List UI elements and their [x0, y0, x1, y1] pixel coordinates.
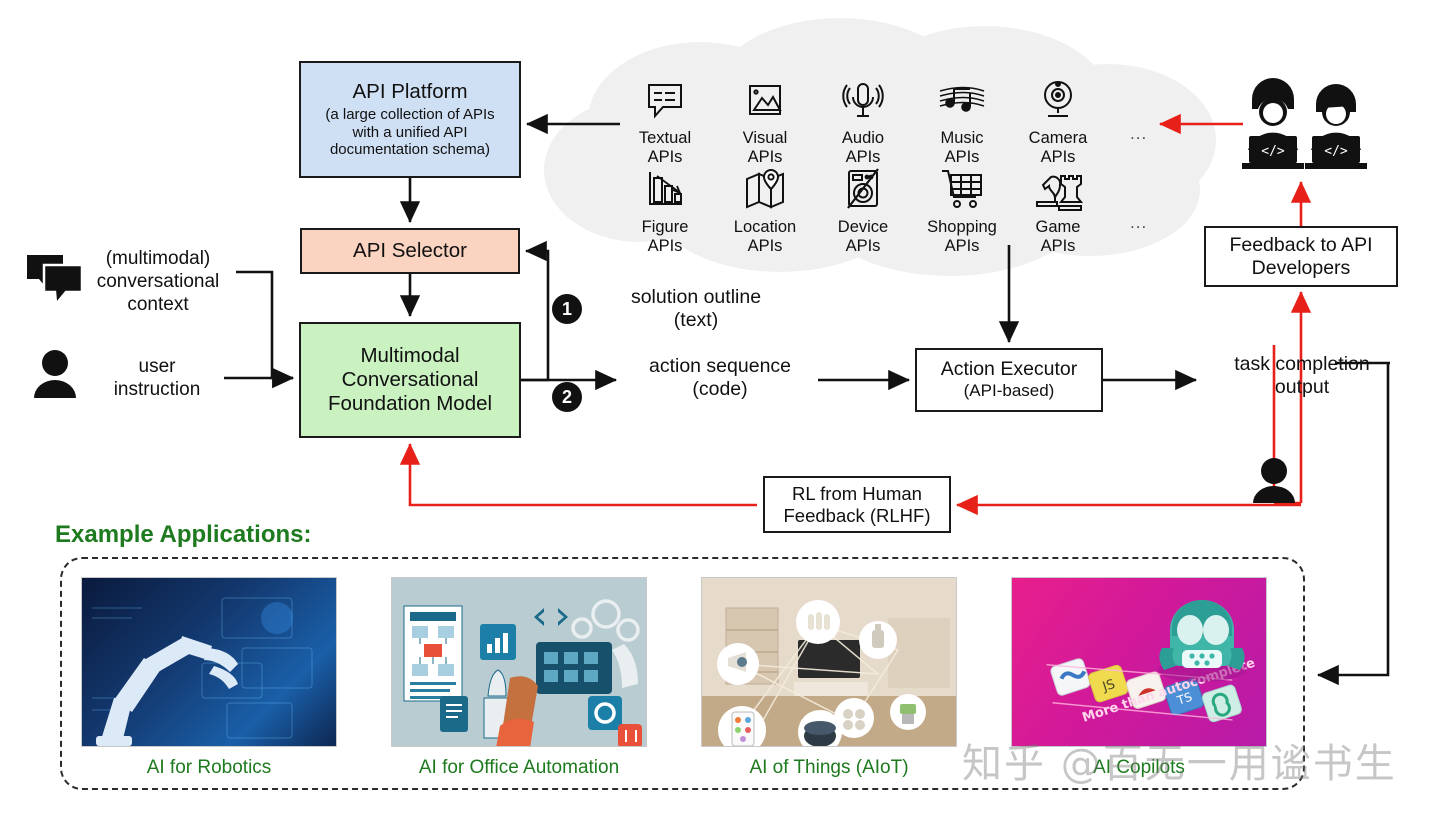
location-api-icon — [717, 162, 813, 214]
device-api-icon — [815, 162, 911, 214]
step-1-badge: 1 — [552, 294, 582, 324]
api-music[interactable]: MusicAPIs — [914, 73, 1010, 167]
developer-female-icon: </> — [1242, 78, 1304, 169]
diagram-canvas: API Platform (a large collection of APIs… — [0, 0, 1440, 813]
application-card-robotics[interactable]: AI for Robotics — [81, 577, 337, 779]
rlhf-node[interactable]: RL from Human Feedback (RLHF) — [763, 476, 951, 533]
application-caption: AI for Robotics — [81, 757, 337, 779]
svg-text:</>: </> — [1261, 144, 1285, 159]
user-instruction-label: user instruction — [92, 355, 222, 401]
step-2-badge: 2 — [552, 382, 582, 412]
figure-api-icon — [617, 162, 713, 214]
api-platform-node[interactable]: API Platform (a large collection of APIs… — [299, 61, 521, 178]
application-card-office[interactable]: AI for Office Automation — [391, 577, 647, 779]
feedback-line1: Feedback to API — [1229, 234, 1372, 257]
foundation-model-line2: Conversational — [342, 368, 479, 392]
api-audio[interactable]: AudioAPIs — [815, 73, 911, 167]
api-camera[interactable]: CameraAPIs — [1010, 73, 1106, 167]
svg-text:</>: </> — [1324, 144, 1348, 159]
api-location[interactable]: LocationAPIs — [717, 162, 813, 256]
copilot-mascot-graphic: JS TS More than autocomplete — [1011, 577, 1267, 747]
visual-api-icon — [717, 73, 813, 125]
api-visual[interactable]: VisualAPIs — [717, 73, 813, 167]
user-person-icon — [34, 350, 76, 398]
end-user-person-icon — [1253, 458, 1295, 503]
cloud-ellipsis-top: ... — [1130, 124, 1147, 144]
shopping-api-icon — [914, 162, 1010, 214]
feedback-to-developers-node[interactable]: Feedback to API Developers — [1204, 226, 1398, 287]
rlhf-line2: Feedback (RLHF) — [783, 505, 930, 527]
api-platform-subtitle: (a large collection of APIs with a unifi… — [325, 106, 494, 159]
foundation-model-node[interactable]: Multimodal Conversational Foundation Mod… — [299, 322, 521, 438]
api-selector-node[interactable]: API Selector — [300, 228, 520, 274]
solution-outline-label: solution outline (text) — [596, 286, 796, 333]
application-caption: AI for Office Automation — [391, 757, 647, 779]
cloud-ellipsis-bottom: ... — [1130, 213, 1147, 233]
foundation-model-line1: Multimodal — [360, 344, 459, 368]
audio-api-icon — [815, 73, 911, 125]
foundation-model-line3: Foundation Model — [328, 392, 492, 416]
application-caption: AI of Things (AIoT) — [701, 757, 957, 779]
game-api-icon — [1010, 162, 1106, 214]
action-executor-title: Action Executor — [941, 358, 1078, 381]
smart-home-photo — [701, 577, 957, 747]
example-applications-heading: Example Applications: — [55, 521, 312, 549]
feedback-line2: Developers — [1252, 257, 1351, 280]
action-executor-subtitle: (API-based) — [964, 381, 1055, 401]
api-device[interactable]: DeviceAPIs — [815, 162, 911, 256]
api-game[interactable]: GameAPIs — [1010, 162, 1106, 256]
developer-male-icon: </> — [1305, 84, 1367, 169]
api-platform-title: API Platform — [352, 80, 467, 104]
rlhf-line1: RL from Human — [792, 483, 922, 505]
music-api-icon — [914, 73, 1010, 125]
api-shopping[interactable]: ShoppingAPIs — [914, 162, 1010, 256]
action-executor-node[interactable]: Action Executor (API-based) — [915, 348, 1103, 412]
task-completion-label: task completion output — [1198, 353, 1406, 400]
action-sequence-label: action sequence (code) — [620, 355, 820, 402]
api-selector-title: API Selector — [353, 239, 467, 263]
chat-bubbles-icon — [27, 255, 82, 304]
application-card-aiot[interactable]: AI of Things (AIoT) — [701, 577, 957, 779]
zhihu-watermark: 知乎 @百无一用谧书生 — [962, 731, 1397, 789]
robotic-arm-photo — [81, 577, 337, 747]
api-textual[interactable]: TextualAPIs — [617, 73, 713, 167]
camera-api-icon — [1010, 73, 1106, 125]
office-automation-illustration — [391, 577, 647, 747]
conversational-context-label: (multimodal) conversational context — [76, 247, 240, 317]
textual-api-icon — [617, 73, 713, 125]
api-figure[interactable]: FigureAPIs — [617, 162, 713, 256]
